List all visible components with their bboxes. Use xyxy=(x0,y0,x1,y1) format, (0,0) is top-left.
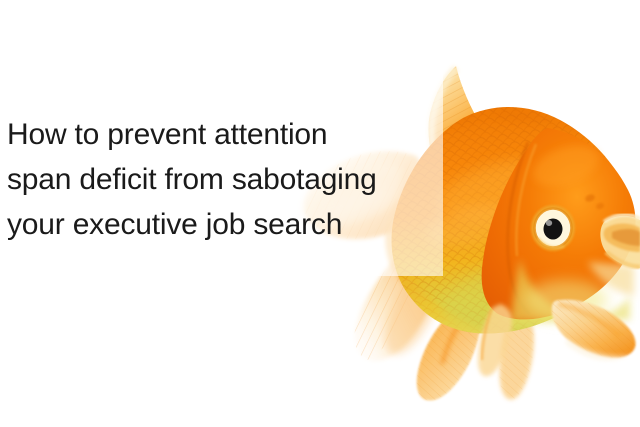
eye xyxy=(531,205,575,251)
image-canvas: How to prevent attention span deficit fr… xyxy=(0,0,640,427)
headline-text: How to prevent attention span deficit fr… xyxy=(7,112,437,247)
